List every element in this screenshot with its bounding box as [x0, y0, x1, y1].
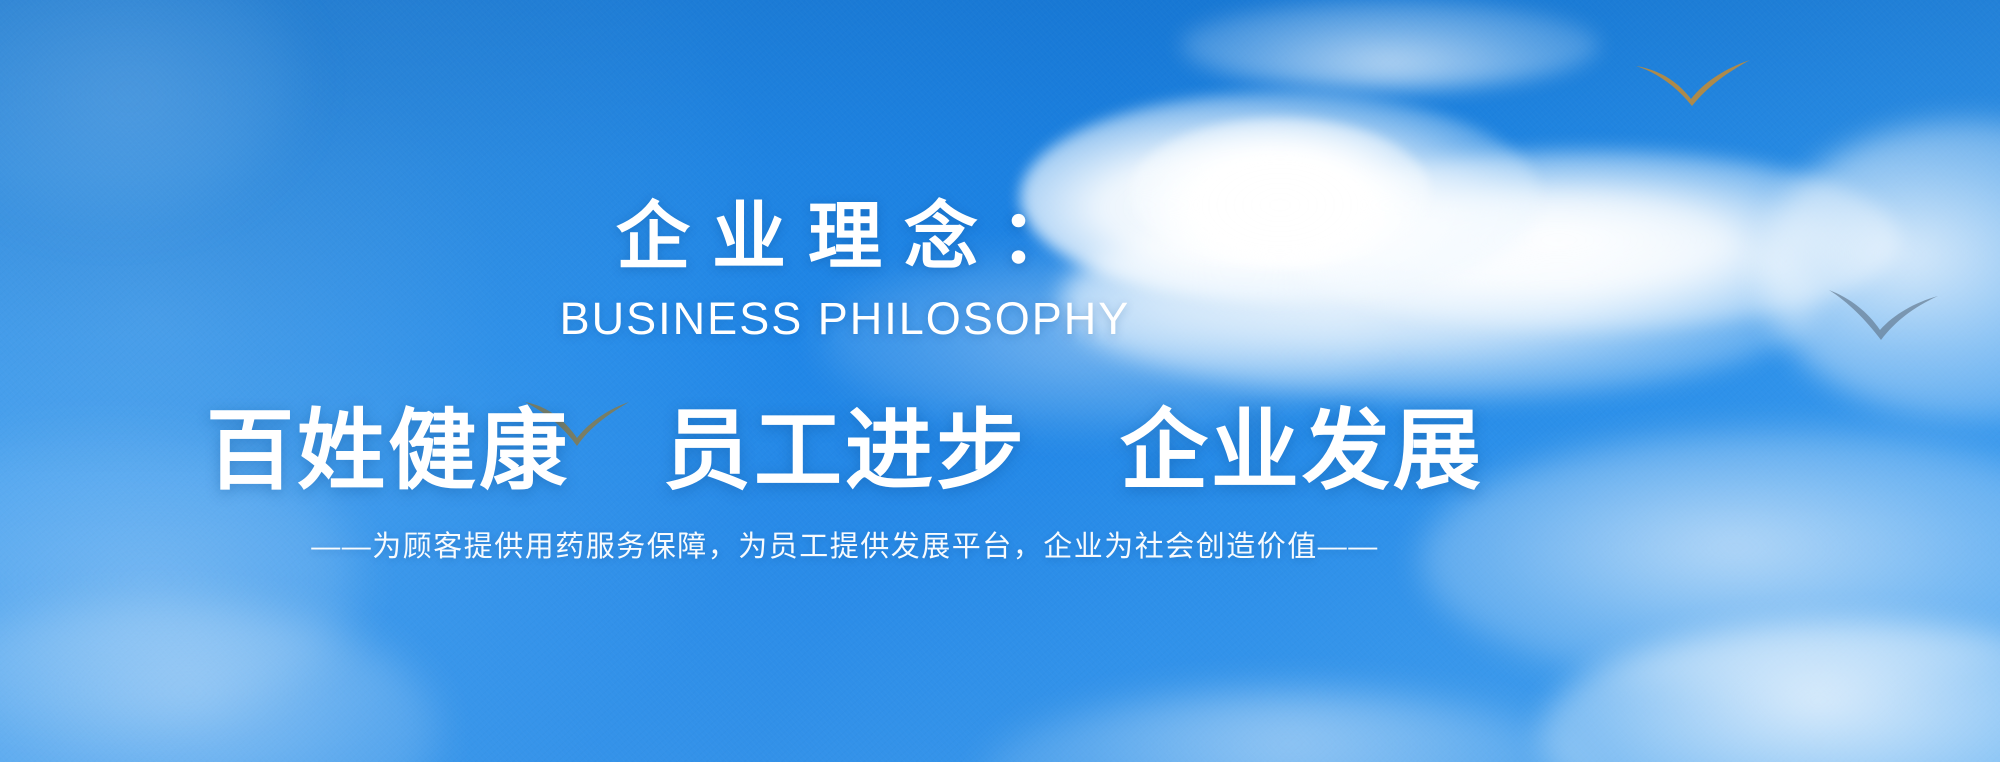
banner-copy: 企业理念： BUSINESS PHILOSOPHY 百姓健康 员工进步 企业发展…	[0, 0, 1690, 762]
page-subtitle: BUSINESS PHILOSOPHY	[560, 296, 1131, 341]
tagline: ——为顾客提供用药服务保障，为员工提供发展平台，企业为社会创造价值——	[311, 533, 1379, 562]
page-title: 企业理念：	[594, 200, 1096, 274]
slogan: 百姓健康 员工进步 企业发展	[206, 403, 1484, 498]
slogan-part-1: 百姓健康	[206, 401, 570, 500]
slogan-part-3: 企业发展	[1120, 401, 1484, 500]
business-philosophy-banner: 企业理念： BUSINESS PHILOSOPHY 百姓健康 员工进步 企业发展…	[0, 0, 2000, 762]
slogan-part-2: 员工进步	[663, 401, 1027, 500]
